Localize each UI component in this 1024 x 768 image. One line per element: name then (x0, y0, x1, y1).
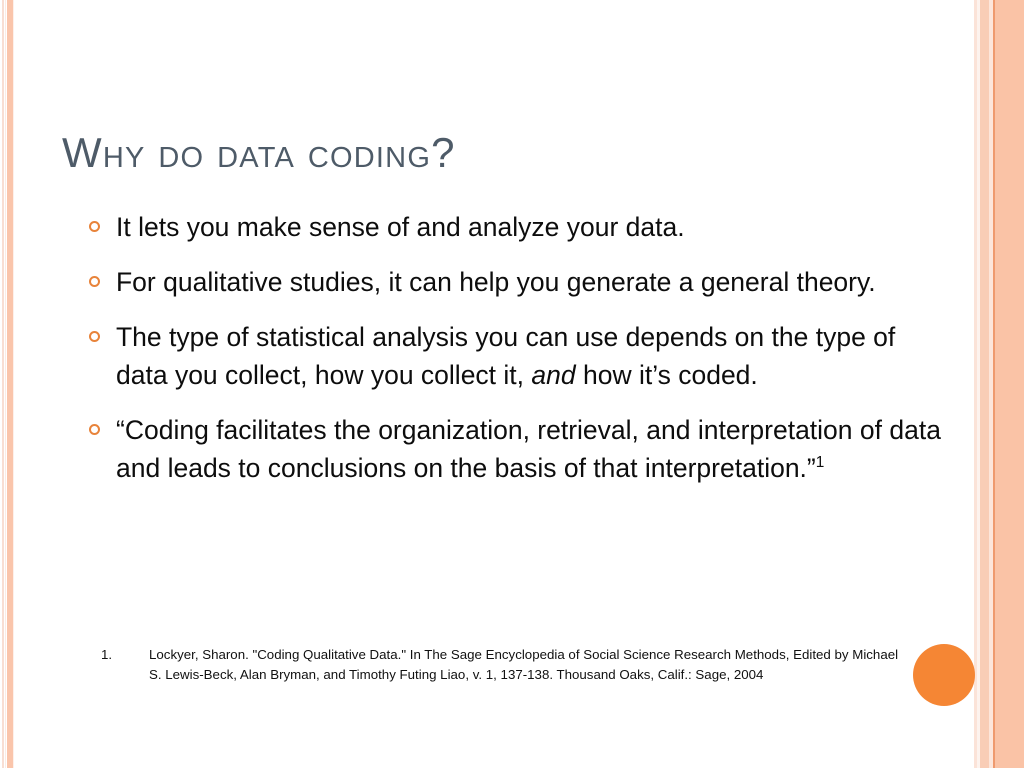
list-item-text-segment: “Coding facilitates the organization, re… (116, 415, 941, 483)
list-item: The type of statistical analysis you can… (86, 318, 946, 394)
orange-circle-decoration (913, 644, 975, 706)
list-item: For qualitative studies, it can help you… (86, 263, 946, 301)
footnote-number: 1. (101, 645, 149, 684)
hollow-circle-bullet-icon (89, 276, 100, 287)
bullet-list: It lets you make sense of and analyze yo… (86, 208, 946, 504)
list-item-text: For qualitative studies, it can help you… (116, 267, 876, 297)
hollow-circle-bullet-icon (89, 221, 100, 232)
list-item-text-segment: The type of statistical analysis you can… (116, 322, 895, 390)
list-item-text: It lets you make sense of and analyze yo… (116, 212, 685, 242)
hollow-circle-bullet-icon (89, 331, 100, 342)
list-item: “Coding facilitates the organization, re… (86, 411, 946, 487)
footnote-row: 1. Lockyer, Sharon. "Coding Qualitative … (101, 645, 913, 684)
stripe-segment (995, 0, 1024, 768)
footnote-text: Lockyer, Sharon. "Coding Qualitative Dat… (149, 645, 913, 684)
slide-title: Why do data coding? (62, 129, 456, 177)
footnote-reference-marker: 1 (816, 454, 825, 471)
emphasis-text: and (531, 360, 575, 390)
presentation-slide: Why do data coding? It lets you make sen… (0, 0, 1024, 768)
stripe-segment (980, 0, 989, 768)
list-item-text: The type of statistical analysis you can… (116, 322, 895, 390)
stripe-segment (13, 0, 14, 768)
stripe-segment (2, 0, 4, 768)
list-item-text: “Coding facilitates the organization, re… (116, 415, 941, 483)
list-item-text-segment: how it’s coded. (576, 360, 758, 390)
stripe-segment (5, 0, 6, 768)
hollow-circle-bullet-icon (89, 424, 100, 435)
list-item: It lets you make sense of and analyze yo… (86, 208, 946, 246)
left-edge-stripe-decoration (0, 0, 16, 768)
footnote-citation: 1. Lockyer, Sharon. "Coding Qualitative … (101, 645, 913, 684)
right-edge-stripe-decoration (974, 0, 1024, 768)
